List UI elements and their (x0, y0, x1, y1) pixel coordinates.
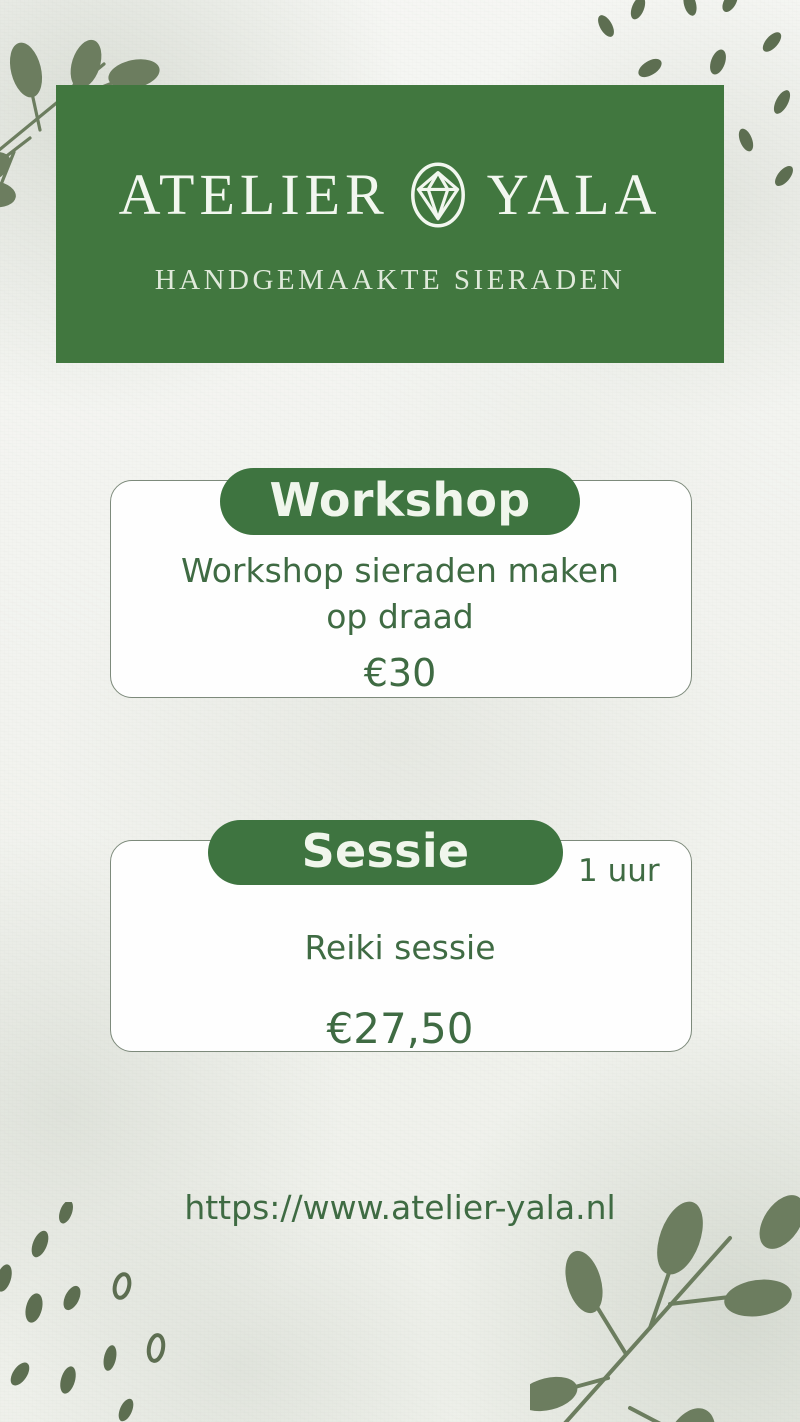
offer-description-line: op draad (0, 594, 800, 640)
offer-badge-workshop: Workshop (220, 468, 580, 535)
promo-poster: ATELIER YALA HANDGEMAAKTE SIERADEN Works… (0, 0, 800, 1422)
offer-price-sessie: €27,50 (0, 1008, 800, 1050)
brand-name-left: ATELIER (119, 166, 389, 224)
brand-logo: ATELIER YALA (119, 160, 662, 230)
diamond-gem-icon (403, 160, 473, 230)
offer-description-workshop: Workshop sieraden maken op draad (0, 548, 800, 640)
brand-banner: ATELIER YALA HANDGEMAAKTE SIERADEN (56, 85, 724, 363)
offer-price-workshop: €30 (0, 654, 800, 692)
offer-description-sessie: Reiki sessie (0, 925, 800, 971)
website-url[interactable]: https://www.atelier-yala.nl (0, 1188, 800, 1227)
brand-tagline: HANDGEMAAKTE SIERADEN (155, 264, 626, 297)
offer-badge-sessie: Sessie (208, 820, 563, 885)
scattered-leaves-icon-bottom-left (0, 1202, 250, 1422)
offer-duration-sessie: 1 uur (578, 853, 660, 889)
brand-name-right: YALA (487, 166, 662, 224)
offer-description-line: Workshop sieraden maken (0, 548, 800, 594)
